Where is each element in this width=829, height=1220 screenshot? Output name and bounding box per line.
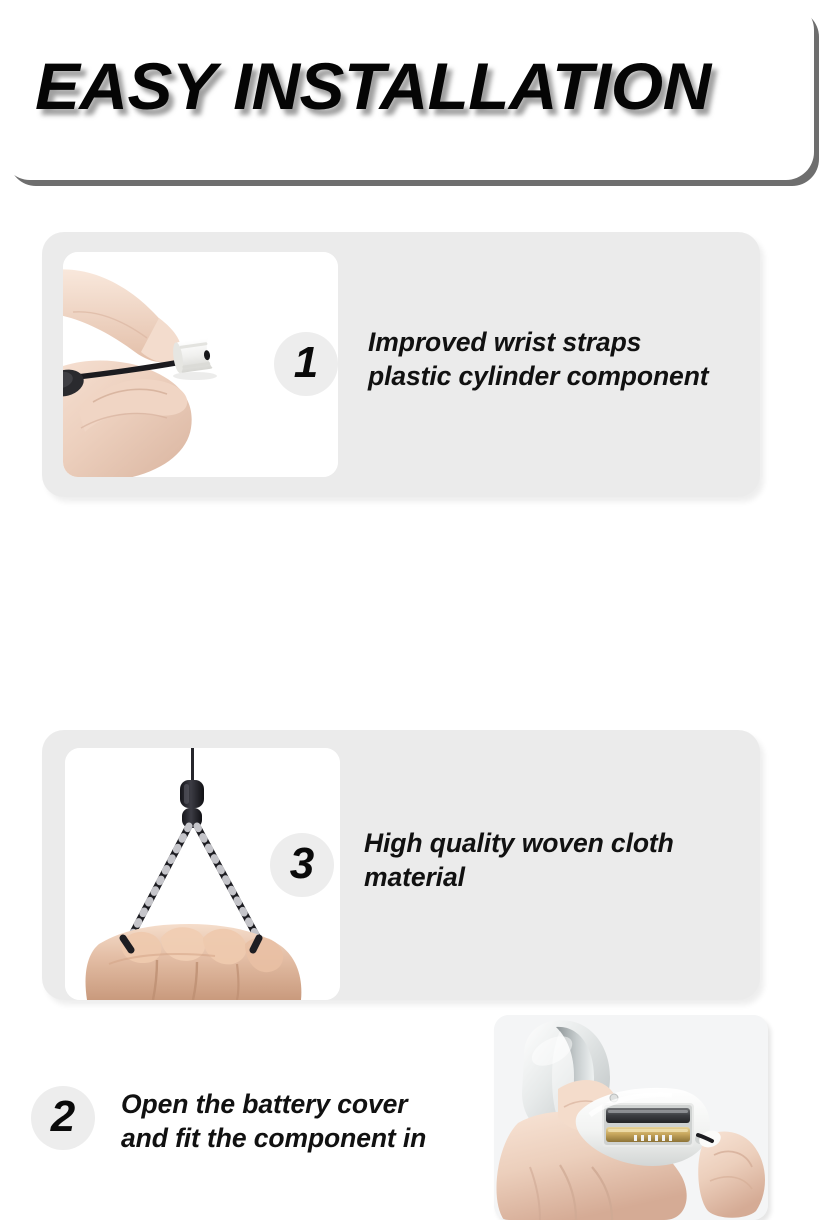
step-card-3: 3 High quality woven cloth material — [42, 730, 760, 1000]
page-title: EASY INSTALLATION — [35, 48, 711, 124]
step-3-number-bubble: 3 — [270, 833, 334, 897]
step-card-2: 2 Open the battery cover and fit the com… — [0, 505, 829, 720]
step-1-number: 1 — [294, 341, 318, 385]
step-3-text: High quality woven cloth material — [364, 827, 754, 895]
step-3-number: 3 — [290, 842, 314, 886]
title-banner: EASY INSTALLATION — [2, 2, 814, 180]
battery-cover-photo — [494, 1015, 768, 1220]
step-2-photo-panel — [494, 1015, 768, 1220]
step-2-text: Open the battery cover and fit the compo… — [121, 1088, 491, 1156]
step-card-1: 1 Improved wrist straps plastic cylinder… — [42, 232, 760, 497]
step-2-number: 2 — [51, 1095, 75, 1139]
step-1-number-bubble: 1 — [274, 332, 338, 396]
step-1-text: Improved wrist straps plastic cylinder c… — [368, 326, 748, 394]
step-2-number-bubble: 2 — [31, 1086, 95, 1150]
